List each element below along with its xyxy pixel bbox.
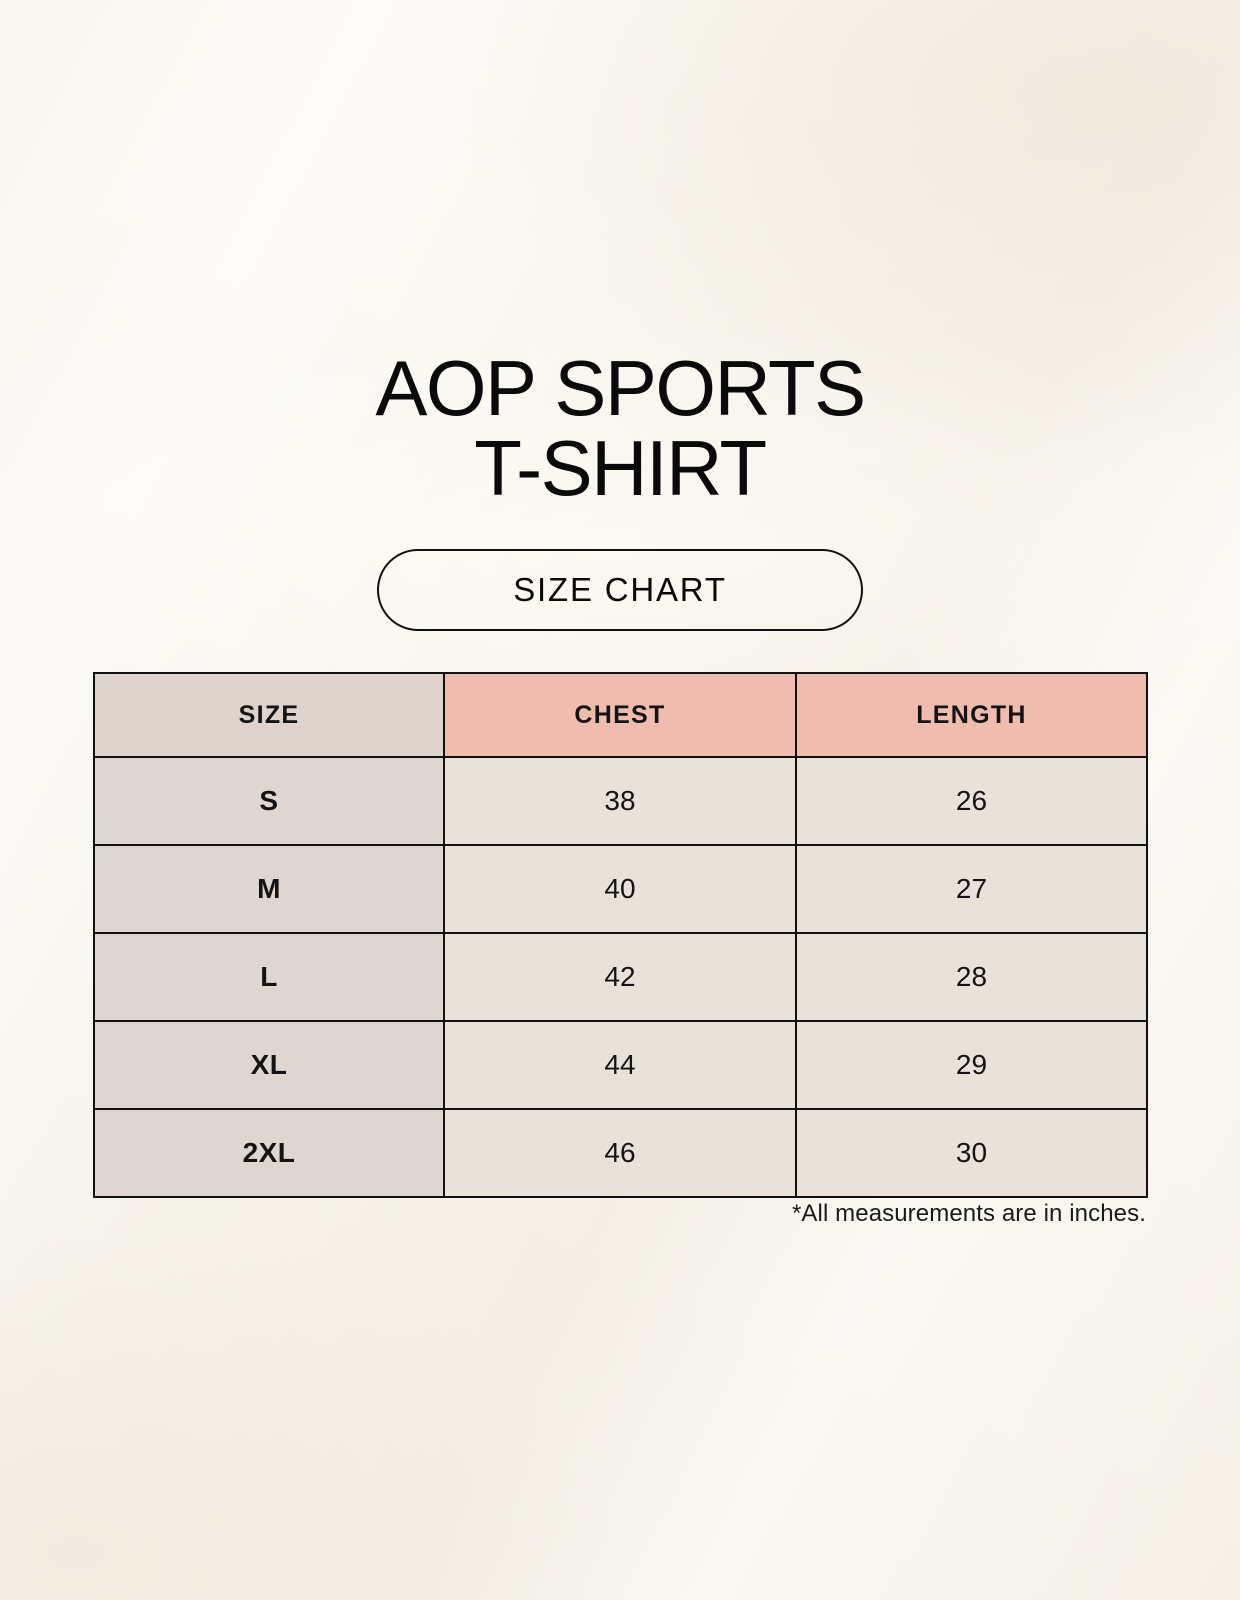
cell-size-l: L <box>94 933 444 1021</box>
cell-size-2xl: 2XL <box>94 1109 444 1197</box>
title-line-1: AOP SPORTS <box>0 348 1240 428</box>
column-header-length: LENGTH <box>796 673 1147 757</box>
cell-length-xl: 29 <box>796 1021 1147 1109</box>
cell-chest-m: 40 <box>444 845 796 933</box>
table-header-row: SIZE CHEST LENGTH <box>94 673 1147 757</box>
size-table-wrapper: SIZE CHEST LENGTH S 38 26 M 40 27 L <box>93 672 1146 1198</box>
size-chart-badge: SIZE CHART <box>377 549 863 631</box>
size-table: SIZE CHEST LENGTH S 38 26 M 40 27 L <box>93 672 1148 1198</box>
measurement-note: *All measurements are in inches. <box>93 1200 1146 1228</box>
cell-chest-2xl: 46 <box>444 1109 796 1197</box>
table-row: M 40 27 <box>94 845 1147 933</box>
cell-chest-l: 42 <box>444 933 796 1021</box>
size-table-head: SIZE CHEST LENGTH <box>94 673 1147 757</box>
cell-length-2xl: 30 <box>796 1109 1147 1197</box>
table-row: S 38 26 <box>94 757 1147 845</box>
size-chart-page: AOP SPORTS T-SHIRT SIZE CHART SIZE CHEST… <box>0 0 1240 1600</box>
cell-length-m: 27 <box>796 845 1147 933</box>
title-line-2: T-SHIRT <box>0 428 1240 508</box>
cell-size-m: M <box>94 845 444 933</box>
cell-length-l: 28 <box>796 933 1147 1021</box>
cell-chest-xl: 44 <box>444 1021 796 1109</box>
size-chart-badge-wrapper: SIZE CHART <box>0 549 1240 631</box>
table-row: XL 44 29 <box>94 1021 1147 1109</box>
cell-size-s: S <box>94 757 444 845</box>
page-title: AOP SPORTS T-SHIRT <box>0 348 1240 508</box>
table-row: 2XL 46 30 <box>94 1109 1147 1197</box>
column-header-size: SIZE <box>94 673 444 757</box>
table-row: L 42 28 <box>94 933 1147 1021</box>
size-table-body: S 38 26 M 40 27 L 42 28 XL 44 29 <box>94 757 1147 1197</box>
cell-chest-s: 38 <box>444 757 796 845</box>
cell-length-s: 26 <box>796 757 1147 845</box>
cell-size-xl: XL <box>94 1021 444 1109</box>
column-header-chest: CHEST <box>444 673 796 757</box>
